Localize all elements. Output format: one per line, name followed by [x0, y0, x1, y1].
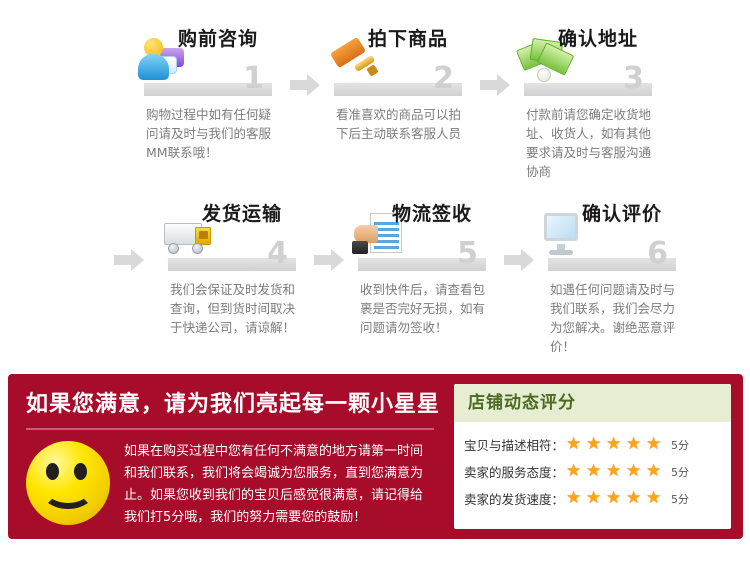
step-4-numberbar: 4	[168, 258, 296, 271]
satisfaction-banner: 如果您满意，请为我们亮起每一颗小星星 如果在购买过程中您有任何不满意的地方请第一…	[8, 374, 743, 539]
flow-step-5: 物流签收 5 收到快件后，请查看包裹是否完好无损，如有问题请勿签收！	[350, 193, 500, 337]
step-1-number: 1	[243, 64, 264, 94]
flow-arrow-5-6	[500, 193, 540, 368]
banner-right: 店铺动态评分 宝贝与描述相符： ★ ★ ★ ★ ★ 5分	[448, 374, 743, 539]
step-3-head: 确认地址 3	[516, 18, 666, 96]
rating-stars-service-attitude: ★ ★ ★ ★ ★	[566, 463, 663, 480]
rating-row: 卖家的发货速度： ★ ★ ★ ★ ★ 5分	[464, 485, 731, 512]
purchase-flow: 购前咨询 1 购物过程中如有任何疑问请及时与我们的客服MM联系哦！ 拍下商品	[0, 18, 750, 368]
star-icon: ★	[566, 490, 583, 507]
flow-step-3: 确认地址 3 付款前请您确定收货地址、收货人，如有其他要求请及时与客服沟通协商	[516, 18, 666, 181]
flow-arrow-2-3	[476, 18, 516, 193]
step-4-title: 发货运输	[202, 199, 282, 226]
flow-arrow-3-4	[120, 193, 160, 368]
star-icon: ★	[586, 463, 603, 480]
step-2-number: 2	[433, 64, 454, 94]
star-icon: ★	[626, 463, 643, 480]
star-icon: ★	[646, 436, 663, 453]
step-3-numberbar: 3	[524, 83, 652, 96]
step-6-number: 6	[647, 239, 668, 269]
flow-row-2: 发货运输 4 我们会保证及时发货和查询，但到货时间取决于快递公司，请谅解！	[0, 193, 750, 368]
rating-label-shipping-speed: 卖家的发货速度：	[464, 489, 564, 508]
star-icon: ★	[646, 463, 663, 480]
step-5-number: 5	[457, 239, 478, 269]
banner-title: 如果您满意，请为我们亮起每一颗小星星	[26, 386, 434, 428]
flow-arrow-1-2	[286, 18, 326, 193]
rating-label-service-attitude: 卖家的服务态度：	[464, 462, 564, 481]
rating-score-description-match: 5分	[671, 437, 689, 453]
star-icon: ★	[606, 436, 623, 453]
step-5-numberbar: 5	[358, 258, 486, 271]
star-icon: ★	[626, 490, 643, 507]
step-3-number: 3	[623, 64, 644, 94]
rating-score-service-attitude: 5分	[671, 464, 689, 480]
rating-score-shipping-speed: 5分	[671, 491, 689, 507]
step-2-head: 拍下商品 2	[326, 18, 476, 96]
star-icon: ★	[566, 436, 583, 453]
flow-row-1: 购前咨询 1 购物过程中如有任何疑问请及时与我们的客服MM联系哦！ 拍下商品	[0, 18, 750, 193]
flow-arrow-4-5	[310, 193, 350, 368]
step-1-numberbar: 1	[144, 83, 272, 96]
star-icon: ★	[566, 463, 583, 480]
step-4-description: 我们会保证及时发货和查询，但到货时间取决于快递公司，请谅解！	[160, 280, 296, 337]
smiley-face-icon	[26, 441, 110, 525]
step-6-title: 确认评价	[582, 199, 662, 226]
rating-stars-description-match: ★ ★ ★ ★ ★	[566, 436, 663, 453]
rating-rows: 宝贝与描述相符： ★ ★ ★ ★ ★ 5分 卖家的服务态度：	[454, 422, 731, 512]
rating-stars-shipping-speed: ★ ★ ★ ★ ★	[566, 490, 663, 507]
step-1-head: 购前咨询 1	[136, 18, 286, 96]
step-5-description: 收到快件后，请查看包裹是否完好无损，如有问题请勿签收！	[350, 280, 486, 337]
star-icon: ★	[606, 463, 623, 480]
flow-step-2: 拍下商品 2 看准喜欢的商品可以拍下后主动联系客服人员	[326, 18, 476, 143]
step-6-numberbar: 6	[548, 258, 676, 271]
step-1-description: 购物过程中如有任何疑问请及时与我们的客服MM联系哦！	[136, 105, 272, 162]
star-icon: ★	[586, 490, 603, 507]
step-2-title: 拍下商品	[368, 24, 448, 51]
rating-heading: 店铺动态评分	[454, 384, 731, 422]
step-5-head: 物流签收 5	[350, 193, 500, 271]
rating-row: 宝贝与描述相符： ★ ★ ★ ★ ★ 5分	[464, 431, 731, 458]
step-2-numberbar: 2	[334, 83, 462, 96]
flow-step-1: 购前咨询 1 购物过程中如有任何疑问请及时与我们的客服MM联系哦！	[136, 18, 286, 162]
step-1-title: 购前咨询	[178, 24, 258, 51]
flow-step-4: 发货运输 4 我们会保证及时发货和查询，但到货时间取决于快递公司，请谅解！	[160, 193, 310, 337]
banner-left: 如果您满意，请为我们亮起每一颗小星星 如果在购买过程中您有任何不满意的地方请第一…	[8, 374, 448, 539]
banner-body: 如果在购买过程中您有任何不满意的地方请第一时间和我们联系，我们将会竭诚为您服务，…	[26, 441, 434, 529]
step-6-description: 如遇任何问题请及时与我们联系，我们会尽力为您解决。谢绝恶意评价！	[540, 280, 676, 356]
step-4-number: 4	[267, 239, 288, 269]
flow-step-6: 确认评价 6 如遇任何问题请及时与我们联系，我们会尽力为您解决。谢绝恶意评价！	[540, 193, 690, 356]
step-6-head: 确认评价 6	[540, 193, 690, 271]
step-3-description: 付款前请您确定收货地址、收货人，如有其他要求请及时与客服沟通协商	[516, 105, 652, 181]
store-rating-card: 店铺动态评分 宝贝与描述相符： ★ ★ ★ ★ ★ 5分	[454, 384, 731, 529]
rating-row: 卖家的服务态度： ★ ★ ★ ★ ★ 5分	[464, 458, 731, 485]
shopping-guide-page: 购前咨询 1 购物过程中如有任何疑问请及时与我们的客服MM联系哦！ 拍下商品	[0, 0, 750, 567]
star-icon: ★	[586, 436, 603, 453]
star-icon: ★	[606, 490, 623, 507]
step-2-description: 看准喜欢的商品可以拍下后主动联系客服人员	[326, 105, 462, 143]
star-icon: ★	[626, 436, 643, 453]
step-3-title: 确认地址	[558, 24, 638, 51]
banner-divider	[26, 428, 434, 430]
step-5-title: 物流签收	[392, 199, 472, 226]
star-icon: ★	[646, 490, 663, 507]
step-4-head: 发货运输 4	[160, 193, 310, 271]
rating-label-description-match: 宝贝与描述相符：	[464, 435, 564, 454]
banner-text: 如果在购买过程中您有任何不满意的地方请第一时间和我们联系，我们将会竭诚为您服务，…	[124, 441, 434, 529]
